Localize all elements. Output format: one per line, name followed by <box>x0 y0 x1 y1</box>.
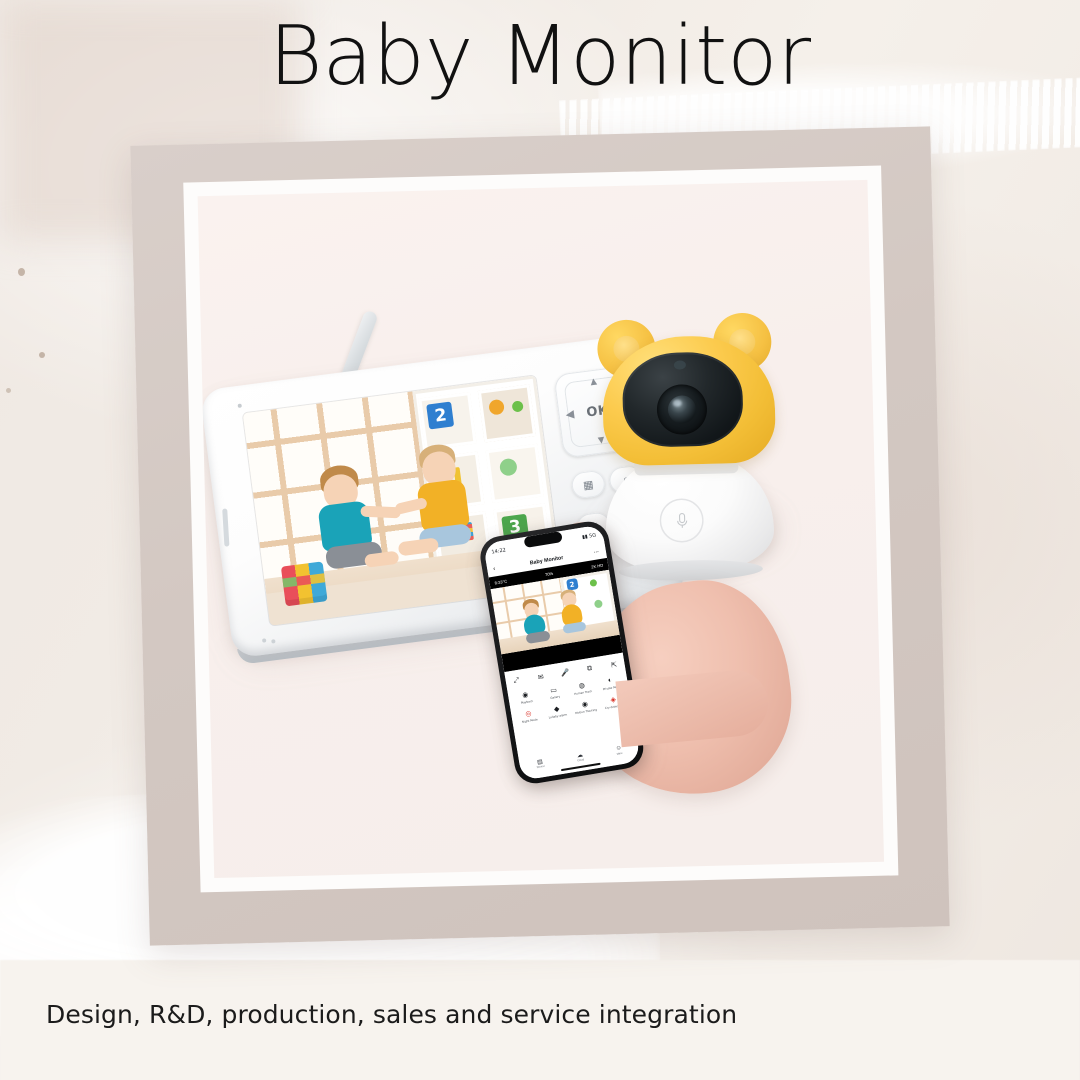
feature-playback[interactable]: ◉ Playback <box>512 687 538 706</box>
feature-night-mode[interactable]: ◎ Night Mode <box>516 706 542 725</box>
toy-blocks-box <box>281 561 328 606</box>
camera-head <box>595 310 779 472</box>
expand-icon[interactable]: ⇱ <box>608 658 621 671</box>
feature-label: Human Track <box>574 690 592 696</box>
product-photo: 2 3 <box>198 180 884 878</box>
snapshot-icon[interactable]: ✉ <box>534 670 547 683</box>
camera-lens-ring <box>656 384 707 435</box>
frame-inner-border: 2 3 <box>183 166 898 893</box>
tab-device[interactable]: ▤ Device <box>535 758 545 770</box>
feature-lullaby-alarm[interactable]: ◆ Lullaby alarm <box>544 701 570 720</box>
fullscreen-icon[interactable]: ⤢ <box>510 674 523 687</box>
video-humidity: 70% <box>545 570 554 576</box>
camera-lens-glass <box>668 395 697 424</box>
tab-label: Mine <box>616 752 622 756</box>
feature-human-track[interactable]: ◍ Human Track <box>569 678 595 697</box>
feature-label: Playback <box>520 700 533 705</box>
background-speck <box>39 352 45 358</box>
feature-motion-tracking[interactable]: ◉ Motion Tracking <box>572 697 598 716</box>
phone-screen: 14:22 ▮▮ 5G ‹ Baby Monitor ⋯ <box>483 524 641 780</box>
shelf-cell <box>477 384 535 443</box>
back-icon[interactable]: ‹ <box>493 566 496 572</box>
tab-label: Cloud <box>577 759 584 763</box>
tab-label: Device <box>537 765 546 769</box>
feature-label: Lullaby alarm <box>548 714 567 720</box>
background-speck <box>6 388 11 393</box>
page-caption: Design, R&D, production, sales and servi… <box>46 1000 737 1029</box>
more-actions-icon[interactable]: ⋯ <box>593 548 601 555</box>
status-time: 14:22 <box>491 547 506 555</box>
feature-label: Gallery <box>550 696 560 701</box>
record-icon[interactable]: ⧉ <box>583 662 596 675</box>
status-signal: ▮▮ 5G <box>582 532 597 540</box>
dpad-left-icon[interactable]: ◀ <box>565 409 575 421</box>
light-sensor-icon <box>674 360 686 369</box>
video-temperature: 8:33°C <box>494 578 507 585</box>
app-title: Baby Monitor <box>529 555 563 566</box>
feature-label: Night Mode <box>522 719 538 724</box>
child-left-leg <box>364 551 399 568</box>
shelf-number-block-2: 2 <box>427 401 455 429</box>
poster-canvas: Baby Monitor <box>0 0 1080 1080</box>
feature-gallery[interactable]: ▭ Gallery <box>541 682 567 701</box>
video-resolution[interactable]: 2K HD <box>591 562 604 569</box>
camera-faceplate <box>622 351 744 448</box>
background-speck <box>18 268 25 276</box>
photo-frame: 2 3 <box>130 126 949 945</box>
tab-cloud[interactable]: ☁ Cloud <box>576 751 585 763</box>
phone-in-hand: 14:22 ▮▮ 5G ‹ Baby Monitor ⋯ <box>494 523 771 830</box>
talk-icon[interactable]: 🎤 <box>559 666 572 679</box>
page-title: Baby Monitor <box>0 14 1080 100</box>
feature-label: Motion Tracking <box>575 709 597 715</box>
